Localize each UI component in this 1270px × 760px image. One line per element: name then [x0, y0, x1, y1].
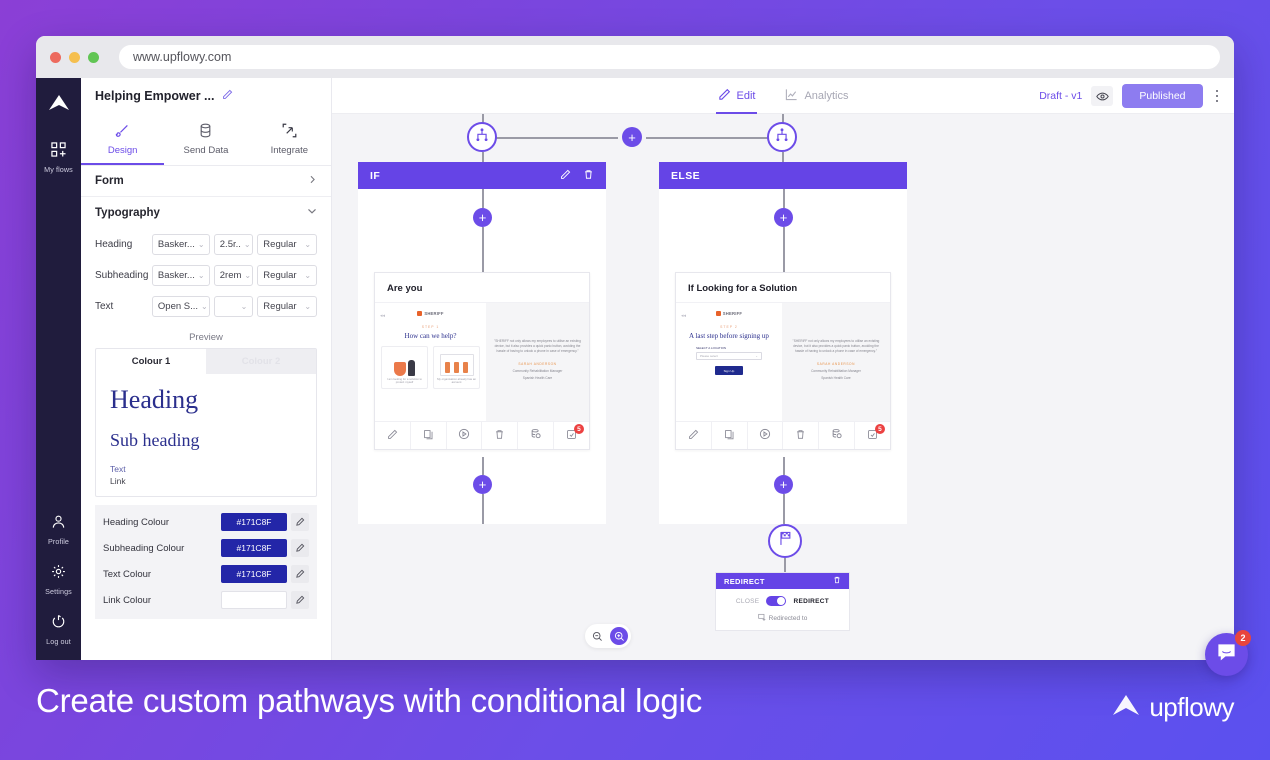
typography-row-subheading: Subheading Basker... ⌄ 2rem ⌄ Regular ⌄: [95, 265, 317, 286]
colour-row-heading: Heading Colour #171C8F: [103, 513, 309, 531]
branch-body-if: + Are you ◂◂ ▸▸ SHERIFF: [358, 189, 606, 524]
text-colour-value: #171C8F: [237, 569, 272, 579]
app-shell: My flows Profile Settings: [36, 78, 1234, 660]
mini-role: Community Rehabilitation Manager: [790, 369, 882, 373]
step-edit-button[interactable]: [375, 422, 411, 449]
toggle-off-label: CLOSE: [736, 598, 760, 605]
eyedropper-icon[interactable]: [291, 513, 309, 531]
brand-name: SHERIFF: [424, 311, 443, 316]
mini-quote: "SHERIFF not only allows my employees to…: [494, 339, 581, 353]
redirect-header: REDIRECT: [716, 573, 849, 589]
thumbnail-form-side: SHERIFF STEP 1 How can we help?: [375, 303, 486, 421]
integrate-icon: [282, 123, 297, 141]
chevron-down-icon: ⌄: [755, 354, 758, 358]
branch-split-node-else[interactable]: [767, 122, 797, 152]
text-colour-swatch[interactable]: #171C8F: [221, 565, 287, 583]
eyedropper-icon[interactable]: [291, 565, 309, 583]
branch-else: ELSE + If Looking for a Solution ◂◂ ▸▸: [659, 162, 907, 524]
main-area: Edit Analytics Draft - v1: [332, 78, 1234, 660]
chevron-down-icon: ⌄: [241, 302, 248, 311]
add-step-button-else-top[interactable]: +: [774, 208, 793, 227]
connector-line: [783, 227, 785, 272]
preview-heading: Heading: [110, 386, 302, 415]
trash-icon[interactable]: [583, 169, 594, 183]
tab-send-data[interactable]: Send Data: [164, 114, 247, 165]
checkered-flag-icon: [777, 530, 794, 552]
typography-row-heading: Heading Basker... ⌄ 2.5r.. ⌄ Regular ⌄: [95, 234, 317, 255]
branch-if: IF: [358, 162, 606, 524]
pencil-icon: [387, 427, 398, 445]
banner-wordmark: upflowy: [1149, 692, 1234, 723]
step-title: Are you: [375, 273, 589, 302]
section-label: Form: [95, 175, 124, 187]
duplicate-icon: [423, 427, 434, 445]
power-icon: [51, 614, 66, 634]
step-delete-button[interactable]: [482, 422, 518, 449]
step-variants-button[interactable]: 5: [855, 422, 890, 449]
connector-line: [783, 457, 785, 475]
maximize-window-button[interactable]: [88, 52, 99, 63]
tab-label: Integrate: [271, 145, 309, 156]
typography-label: Heading: [95, 239, 152, 250]
redirect-title: REDIRECT: [724, 577, 765, 586]
chevron-down-icon: ⌄: [201, 302, 208, 311]
connector-line: [482, 494, 484, 524]
mini-step-label: STEP 1: [381, 325, 480, 329]
branch-label: IF: [370, 170, 380, 182]
upflowy-mark-icon: [1111, 693, 1141, 723]
connector-line: [496, 137, 618, 139]
subheading-weight-value: Regular: [263, 270, 296, 281]
zoom-out-button[interactable]: [588, 627, 606, 645]
step-data-button[interactable]: [819, 422, 855, 449]
mini-select-field[interactable]: Please select ⌄: [696, 352, 762, 360]
typography-label: Text: [95, 301, 152, 312]
connector-line: [482, 227, 484, 272]
mini-headline: How can we help?: [381, 332, 480, 340]
chart-line-icon: [785, 88, 798, 104]
step-thumbnail: ◂◂ ▸▸ SHERIFF STEP 1 How can we help?: [375, 302, 589, 421]
mini-author: SARAH ANDERSON: [494, 362, 581, 366]
connector-line: [784, 558, 786, 572]
add-step-button-if-top[interactable]: +: [473, 208, 492, 227]
flow-canvas[interactable]: + IF: [332, 114, 1234, 660]
mini-option-list: I am looking for a solution to protect m…: [381, 346, 480, 389]
tab-edit[interactable]: Edit: [716, 79, 758, 114]
text-weight-select[interactable]: Regular ⌄: [257, 296, 317, 317]
chevron-down-icon: ⌄: [304, 271, 311, 280]
mini-select-placeholder: Please select: [700, 354, 718, 358]
preview-text: Text: [110, 464, 302, 474]
preview-eye-icon[interactable]: [1091, 86, 1113, 106]
connector-line: [783, 189, 785, 208]
toggle-on-label: REDIRECT: [793, 598, 829, 605]
preview-tab-colour-2[interactable]: Colour 2: [206, 349, 316, 374]
connector-line: [482, 189, 484, 208]
chevron-down-icon: ⌄: [304, 302, 311, 311]
publish-button[interactable]: Published: [1122, 84, 1202, 108]
status-badge: 5: [574, 424, 584, 434]
chevron-down-icon: ⌄: [198, 271, 205, 280]
chevron-down-icon: ⌄: [198, 240, 205, 249]
typography-row-text: Text Open S... ⌄ ⌄ Regular ⌄: [95, 296, 317, 317]
mini-step-label: STEP 2: [682, 325, 776, 329]
sidebar-item-my-flows[interactable]: My flows: [36, 133, 81, 183]
step-preview-button[interactable]: [748, 422, 784, 449]
mini-option-caption: My organisation already has an account: [437, 378, 476, 385]
trash-icon: [494, 427, 505, 445]
gear-icon: [51, 564, 66, 584]
eyedropper-icon[interactable]: [291, 591, 309, 609]
step-card-if[interactable]: Are you ◂◂ ▸▸ SHERIFF STEP 1: [374, 272, 590, 450]
brush-icon: [115, 123, 130, 141]
minimize-window-button[interactable]: [69, 52, 80, 63]
mini-brand-logo: SHERIFF: [682, 311, 776, 316]
brand-mark-icon: [417, 311, 422, 316]
mini-author: SARAH ANDERSON: [790, 362, 882, 366]
browser-window: www.upflowy.com My flows: [36, 36, 1234, 660]
thumbnail-testimonial-side: "SHERIFF not only allows my employees to…: [782, 303, 890, 421]
step-preview-button[interactable]: [447, 422, 483, 449]
heading-weight-value: Regular: [263, 239, 296, 250]
mini-brand-logo: SHERIFF: [381, 311, 480, 316]
chevron-right-icon: [308, 175, 317, 187]
chat-unread-badge: 2: [1235, 630, 1251, 646]
heading-colour-value: #171C8F: [237, 517, 272, 527]
sidebar-item-log-out[interactable]: Log out: [36, 605, 81, 660]
mini-role: Community Rehabilitation Manager: [494, 369, 581, 373]
step-card-else[interactable]: If Looking for a Solution ◂◂ ▸▸ SHERIFF: [675, 272, 891, 450]
chevron-down-icon: [307, 206, 317, 219]
typography-controls: Heading Basker... ⌄ 2.5r.. ⌄ Regular ⌄: [81, 228, 331, 329]
preview-tab-colour-1[interactable]: Colour 1: [96, 349, 206, 374]
subheading-colour-swatch[interactable]: #171C8F: [221, 539, 287, 557]
left-nav-rail: My flows Profile Settings: [36, 78, 81, 660]
redirected-to-label: Redirected to: [769, 615, 808, 622]
external-link-icon: [758, 613, 766, 623]
colour-row-subheading: Subheading Colour #171C8F: [103, 539, 309, 557]
flow-title-bar: Helping Empower ...: [81, 78, 331, 114]
tab-label: Edit: [737, 90, 756, 102]
url-bar[interactable]: www.upflowy.com: [119, 45, 1220, 69]
redirect-body: CLOSE REDIRECT Redirected to: [716, 589, 849, 630]
preview-subheading: Sub heading: [110, 431, 302, 451]
traffic-lights: [50, 52, 99, 63]
mini-headline: A last step before signing up: [682, 332, 776, 340]
sidebar-item-label: My flows: [44, 165, 73, 174]
colour-row-link: Link Colour: [103, 591, 309, 609]
branch-actions: [560, 169, 594, 183]
branch-split-icon: [774, 127, 790, 148]
subheading-font-value: Basker...: [158, 270, 195, 281]
thumbnail-form-side: SHERIFF STEP 2 A last step before signin…: [676, 303, 782, 421]
mini-company: Spanish Health Care: [494, 376, 581, 380]
sidebar-item-label: Log out: [46, 637, 71, 646]
sidebar-item-label: Profile: [48, 537, 69, 546]
subheading-size-select[interactable]: 2rem ⌄: [214, 265, 254, 286]
pencil-icon: [688, 427, 699, 445]
preview-link: Link: [110, 476, 302, 486]
step-variants-button[interactable]: 5: [554, 422, 589, 449]
section-typography[interactable]: Typography: [81, 197, 331, 228]
add-branch-button[interactable]: +: [622, 127, 642, 147]
connector-line: [482, 457, 484, 475]
play-icon: [759, 427, 771, 445]
colour-row-text: Text Colour #171C8F: [103, 565, 309, 583]
add-step-button-if-bottom[interactable]: +: [473, 475, 492, 494]
typography-label: Subheading: [95, 270, 152, 281]
page-title: Helping Empower ...: [95, 89, 214, 103]
tab-label: Design: [108, 145, 138, 156]
preview-body: Heading Sub heading Text Link: [96, 374, 316, 496]
grid-plus-icon: [51, 142, 66, 162]
branch-header-else: ELSE: [659, 162, 907, 189]
step-delete-button[interactable]: [783, 422, 819, 449]
connector-line: [646, 137, 768, 139]
user-icon: [51, 514, 66, 534]
text-font-value: Open S...: [158, 301, 198, 312]
preview-colour-tabs: Colour 1 Colour 2: [96, 349, 316, 374]
topbar-actions: Draft - v1 Published: [1039, 78, 1222, 114]
redirect-toggle[interactable]: [766, 596, 786, 606]
text-font-select[interactable]: Open S... ⌄: [152, 296, 210, 317]
editor-topbar: Edit Analytics Draft - v1: [332, 78, 1234, 114]
sidebar-item-profile[interactable]: Profile: [36, 505, 81, 555]
zoom-in-button[interactable]: [610, 627, 628, 645]
colour-settings: Heading Colour #171C8F Subheading Colour…: [95, 505, 317, 619]
banner-headline: Create custom pathways with conditional …: [36, 682, 702, 720]
add-step-button-else-bottom[interactable]: +: [774, 475, 793, 494]
mini-submit-button[interactable]: Sign Up: [715, 366, 743, 375]
heading-font-select[interactable]: Basker... ⌄: [152, 234, 210, 255]
status-badge: 5: [875, 424, 885, 434]
shield-person-illustration-icon: [385, 350, 424, 376]
subheading-colour-value: #171C8F: [237, 543, 272, 553]
promo-banner: Create custom pathways with conditional …: [0, 660, 1270, 760]
thumbnail-testimonial-side: "SHERIFF not only allows my employees to…: [486, 303, 589, 421]
step-title: If Looking for a Solution: [676, 273, 890, 302]
mini-option[interactable]: I am looking for a solution to protect m…: [381, 346, 428, 389]
typography-preview-card: Colour 1 Colour 2 Heading Sub heading Te…: [95, 348, 317, 497]
branch-split-icon: [474, 127, 490, 148]
upflowy-mark-icon: [48, 94, 70, 117]
play-icon: [458, 427, 470, 445]
redirect-node[interactable]: REDIRECT CLOSE REDIRECT: [715, 572, 850, 631]
design-panel: Helping Empower ... Design: [81, 78, 332, 660]
chevron-down-icon: ⌄: [304, 240, 311, 249]
sidebar-item-label: Settings: [45, 587, 72, 596]
tab-integrate[interactable]: Integrate: [248, 114, 331, 165]
link-colour-swatch[interactable]: [221, 591, 287, 609]
redirect-toggle-row: CLOSE REDIRECT: [724, 596, 841, 606]
panel-tabs: Design Send Data: [81, 114, 331, 166]
colour-label: Heading Colour: [103, 517, 221, 528]
text-size-select[interactable]: ⌄: [214, 296, 254, 317]
trash-icon[interactable]: [833, 576, 841, 586]
branch-split-node-if[interactable]: [467, 122, 497, 152]
chevron-down-icon: ⌄: [244, 271, 251, 280]
brand-name: SHERIFF: [723, 311, 742, 316]
section-label: Typography: [95, 207, 160, 219]
close-window-button[interactable]: [50, 52, 61, 63]
database-icon: [831, 427, 843, 445]
heading-font-value: Basker...: [158, 239, 195, 250]
kebab-menu-icon[interactable]: [1212, 86, 1223, 107]
zoom-controls: [585, 624, 631, 648]
brand-mark-icon: [716, 311, 721, 316]
database-icon: [198, 123, 213, 141]
branch-header-if: IF: [358, 162, 606, 189]
step-duplicate-button[interactable]: [411, 422, 447, 449]
mini-field-label: SELECT A LOCATION: [696, 346, 776, 350]
colour-label: Subheading Colour: [103, 543, 221, 554]
subheading-weight-select[interactable]: Regular ⌄: [257, 265, 317, 286]
draft-version-label[interactable]: Draft - v1: [1039, 90, 1082, 102]
colour-label: Link Colour: [103, 595, 221, 606]
mini-option-caption: I am looking for a solution to protect m…: [385, 378, 424, 385]
url-text: www.upflowy.com: [133, 50, 231, 64]
tab-label: Analytics: [804, 90, 848, 102]
team-board-illustration-icon: [437, 350, 476, 376]
text-weight-value: Regular: [263, 301, 296, 312]
pencil-icon[interactable]: [560, 169, 571, 183]
step-data-button[interactable]: [518, 422, 554, 449]
redirected-to-row: Redirected to: [724, 613, 841, 623]
branch-label: ELSE: [671, 170, 700, 182]
banner-logo: upflowy: [1111, 692, 1234, 723]
section-form[interactable]: Form: [81, 166, 331, 196]
heading-size-select[interactable]: 2.5r.. ⌄: [214, 234, 254, 255]
connector-line: [783, 494, 785, 524]
subheading-size-value: 2rem: [220, 270, 242, 281]
step-action-bar: 5: [375, 421, 589, 449]
step-duplicate-button[interactable]: [712, 422, 748, 449]
pencil-icon: [718, 88, 731, 104]
tab-analytics[interactable]: Analytics: [783, 79, 850, 114]
heading-colour-swatch[interactable]: #171C8F: [221, 513, 287, 531]
database-icon: [530, 427, 542, 445]
heading-weight-select[interactable]: Regular ⌄: [257, 234, 317, 255]
step-thumbnail: ◂◂ ▸▸ SHERIFF STEP 2 A last step before …: [676, 302, 890, 421]
eyedropper-icon[interactable]: [291, 539, 309, 557]
subheading-font-select[interactable]: Basker... ⌄: [152, 265, 210, 286]
trash-icon: [795, 427, 806, 445]
mini-option[interactable]: My organisation already has an account: [433, 346, 480, 389]
browser-chrome-bar: www.upflowy.com: [36, 36, 1234, 78]
tab-label: Send Data: [184, 145, 229, 156]
rename-flow-pencil-icon[interactable]: [222, 87, 233, 105]
duplicate-icon: [724, 427, 735, 445]
finish-node[interactable]: [768, 524, 802, 558]
step-edit-button[interactable]: [676, 422, 712, 449]
colour-label: Text Colour: [103, 569, 221, 580]
preview-label: Preview: [81, 332, 331, 343]
mode-tabs: Edit Analytics: [716, 78, 851, 113]
heading-size-value: 2.5r..: [220, 239, 241, 250]
branch-body-else: + If Looking for a Solution ◂◂ ▸▸ S: [659, 189, 907, 524]
tab-design[interactable]: Design: [81, 114, 164, 165]
step-action-bar: 5: [676, 421, 890, 449]
chevron-down-icon: ⌄: [244, 240, 251, 249]
sidebar-item-settings[interactable]: Settings: [36, 555, 81, 605]
mini-company: Spanish Health Care: [790, 376, 882, 380]
mini-quote: "SHERIFF not only allows my employees to…: [790, 339, 882, 353]
